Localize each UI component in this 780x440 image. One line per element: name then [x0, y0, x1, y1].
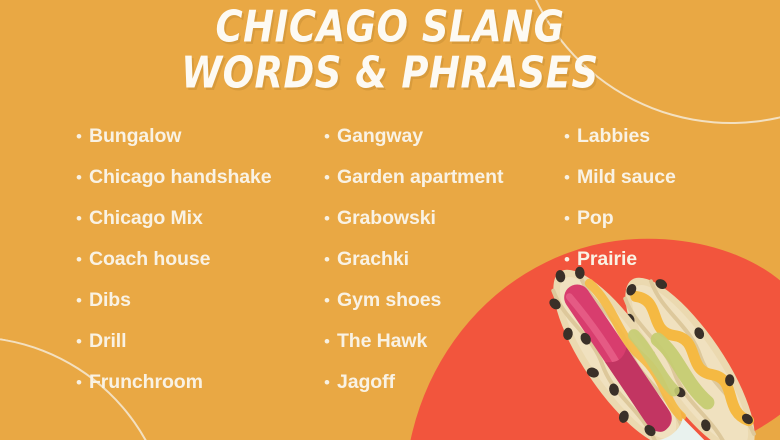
list-item: Prairie: [564, 248, 774, 289]
list-item: Chicago Mix: [76, 207, 326, 248]
list-item-label: Grabowski: [337, 207, 436, 230]
slang-word-list: Bungalow Chicago handshake Chicago Mix C…: [0, 125, 780, 405]
list-item-label: Mild sauce: [577, 166, 676, 189]
list-item: Coach house: [76, 248, 326, 289]
list-item-label: Labbies: [577, 125, 650, 148]
list-item-label: Pop: [577, 207, 614, 230]
list-item-label: Prairie: [577, 248, 637, 271]
list-item: The Hawk: [324, 330, 564, 371]
bullet-icon: [324, 292, 337, 309]
slang-column-1: Bungalow Chicago handshake Chicago Mix C…: [76, 125, 326, 412]
list-item: Dibs: [76, 289, 326, 330]
bullet-icon: [76, 292, 89, 309]
list-item-label: Coach house: [89, 248, 210, 271]
bullet-icon: [564, 210, 577, 227]
bullet-icon: [76, 169, 89, 186]
bullet-icon: [324, 210, 337, 227]
bullet-icon: [76, 251, 89, 268]
list-item: Gym shoes: [324, 289, 564, 330]
bullet-icon: [324, 251, 337, 268]
list-item-label: Frunchroom: [89, 371, 203, 394]
title-line-1: CHICAGO SLANG: [0, 6, 780, 49]
slang-column-2: Gangway Garden apartment Grabowski Grach…: [324, 125, 564, 412]
list-item: Garden apartment: [324, 166, 564, 207]
list-item-label: Garden apartment: [337, 166, 503, 189]
bullet-icon: [76, 374, 89, 391]
list-item-label: Chicago Mix: [89, 207, 203, 230]
bullet-icon: [324, 169, 337, 186]
list-item-label: Drill: [89, 330, 126, 353]
bullet-icon: [76, 128, 89, 145]
list-item-label: Gangway: [337, 125, 423, 148]
list-item: Chicago handshake: [76, 166, 326, 207]
list-item: Bungalow: [76, 125, 326, 166]
bullet-icon: [564, 169, 577, 186]
list-item-label: The Hawk: [337, 330, 427, 353]
list-item-label: Jagoff: [337, 371, 395, 394]
list-item: Labbies: [564, 125, 774, 166]
list-item: Pop: [564, 207, 774, 248]
list-item-label: Dibs: [89, 289, 131, 312]
list-item: Frunchroom: [76, 371, 326, 412]
bullet-icon: [76, 210, 89, 227]
bullet-icon: [564, 128, 577, 145]
list-item: Gangway: [324, 125, 564, 166]
page-title: CHICAGO SLANG WORDS & PHRASES: [0, 2, 780, 89]
list-item-label: Bungalow: [89, 125, 181, 148]
list-item: Mild sauce: [564, 166, 774, 207]
list-item-label: Chicago handshake: [89, 166, 272, 189]
bullet-icon: [324, 374, 337, 391]
slang-column-3: Labbies Mild sauce Pop Prairie: [564, 125, 774, 289]
list-item: Jagoff: [324, 371, 564, 412]
list-item: Grabowski: [324, 207, 564, 248]
bullet-icon: [324, 333, 337, 350]
poster-canvas: CHICAGO SLANG WORDS & PHRASES Bungalow C…: [0, 0, 780, 440]
list-item-label: Gym shoes: [337, 289, 441, 312]
list-item: Grachki: [324, 248, 564, 289]
title-line-2: WORDS & PHRASES: [0, 52, 780, 95]
bullet-icon: [76, 333, 89, 350]
bullet-icon: [324, 128, 337, 145]
list-item-label: Grachki: [337, 248, 409, 271]
bullet-icon: [564, 251, 577, 268]
list-item: Drill: [76, 330, 326, 371]
